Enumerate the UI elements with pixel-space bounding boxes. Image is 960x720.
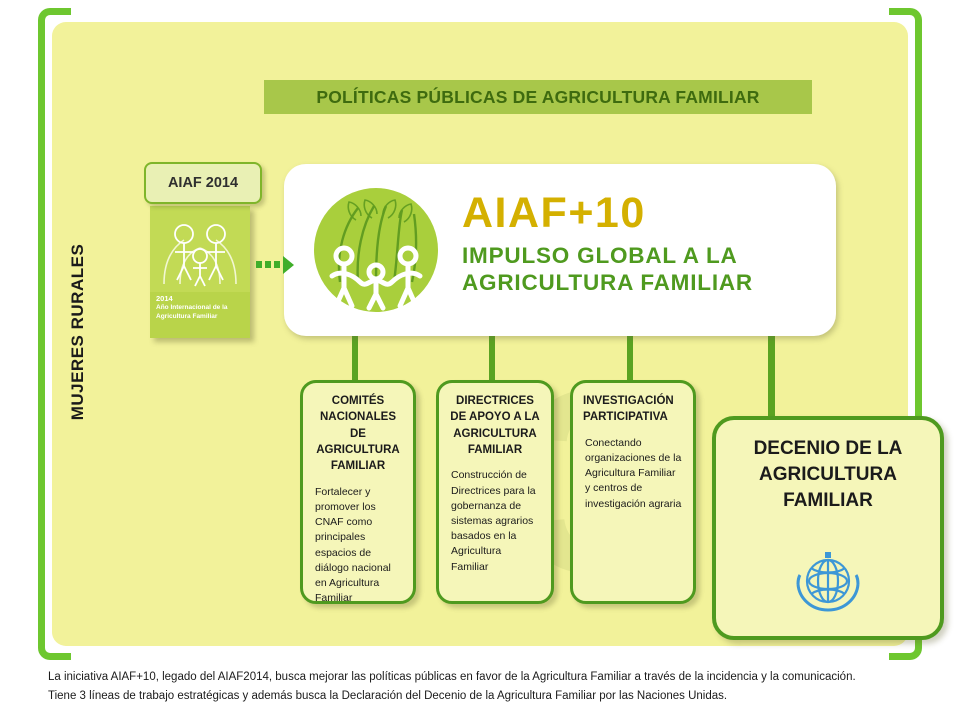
poster-artwork-svg [150, 206, 250, 292]
page-title: POLÍTICAS PÚBLICAS DE AGRICULTURA FAMILI… [264, 80, 812, 114]
poster-year: 2014 [156, 294, 246, 304]
aiaf-2014-tag: AIAF 2014 [144, 162, 262, 204]
dotted-arrow-icon [256, 254, 296, 276]
poster-line1: Año Internacional de la [156, 304, 228, 311]
side-label-left: MUJERES RURALES [68, 202, 88, 462]
aiaf-logo-svg [306, 180, 446, 320]
diagram-panel: 3 POLÍTICAS PÚBLICAS DE AGRICULTURA FAMI… [52, 22, 908, 646]
strategy-card-investigacion-title: INVESTIGACIÓN PARTICIPATIVA [573, 383, 693, 426]
footer-note: La iniciativa AIAF+10, legado del AIAF20… [48, 668, 938, 706]
strategy-card-directrices: DIRECTRICES DE APOYO A LA AGRICULTURA FA… [436, 380, 554, 604]
decenio-card-title: DECENIO DE LA AGRICULTURA FAMILIAR [716, 420, 940, 515]
connector-stem-card3 [627, 336, 633, 382]
poster-line2: Agricultura Familiar [156, 313, 217, 320]
footer-line-2: Tiene 3 líneas de trabajo estratégicas y… [48, 687, 938, 706]
strategy-card-comites: COMITÉS NACIONALES DE AGRICULTURA FAMILI… [300, 380, 416, 604]
aiaf-2014-poster-thumbnail: 2014 Año Internacional de la Agricultura… [150, 206, 250, 338]
footer-line-1: La iniciativa AIAF+10, legado del AIAF20… [48, 668, 938, 687]
aiaf-plus-10-logo-card: AIAF+10 IMPULSO GLOBAL A LA AGRICULTURA … [284, 164, 836, 336]
aiaf-logo-line3: AGRICULTURA FAMILIAR [462, 270, 822, 297]
family-farming-poster-icon [150, 206, 250, 292]
strategy-card-comites-title: COMITÉS NACIONALES DE AGRICULTURA FAMILI… [303, 383, 413, 475]
connector-stem-decenio [768, 336, 775, 420]
strategy-card-directrices-body: Construcción de Directrices para la gobe… [439, 458, 551, 575]
connector-stem-card1 [352, 336, 358, 382]
strategy-card-comites-body: Fortalecer y promover los CNAF como prin… [303, 475, 413, 607]
bracket-left-bar [38, 34, 45, 634]
aiaf-2014-tag-label: AIAF 2014 [168, 175, 238, 191]
united-nations-emblem-icon [789, 544, 867, 622]
un-emblem-svg [789, 544, 867, 622]
aiaf-logo-wordmark: AIAF+10 IMPULSO GLOBAL A LA AGRICULTURA … [462, 192, 822, 296]
dotted-arrow-svg [256, 254, 296, 276]
aiaf-logo-line2: IMPULSO GLOBAL A LA [462, 243, 822, 270]
connector-stem-card2 [489, 336, 495, 382]
poster-caption: 2014 Año Internacional de la Agricultura… [156, 294, 246, 322]
page-title-text: POLÍTICAS PÚBLICAS DE AGRICULTURA FAMILI… [316, 87, 759, 108]
aiaf-logo-line1: AIAF+10 [462, 192, 822, 235]
aiaf-wheat-people-circle-icon [306, 180, 446, 320]
strategy-card-investigacion-body: Conectando organizaciones de la Agricult… [573, 426, 693, 512]
strategy-card-investigacion: INVESTIGACIÓN PARTICIPATIVA Conectando o… [570, 380, 696, 604]
decenio-card: DECENIO DE LA AGRICULTURA FAMILIAR [712, 416, 944, 640]
strategy-card-directrices-title: DIRECTRICES DE APOYO A LA AGRICULTURA FA… [439, 383, 551, 458]
